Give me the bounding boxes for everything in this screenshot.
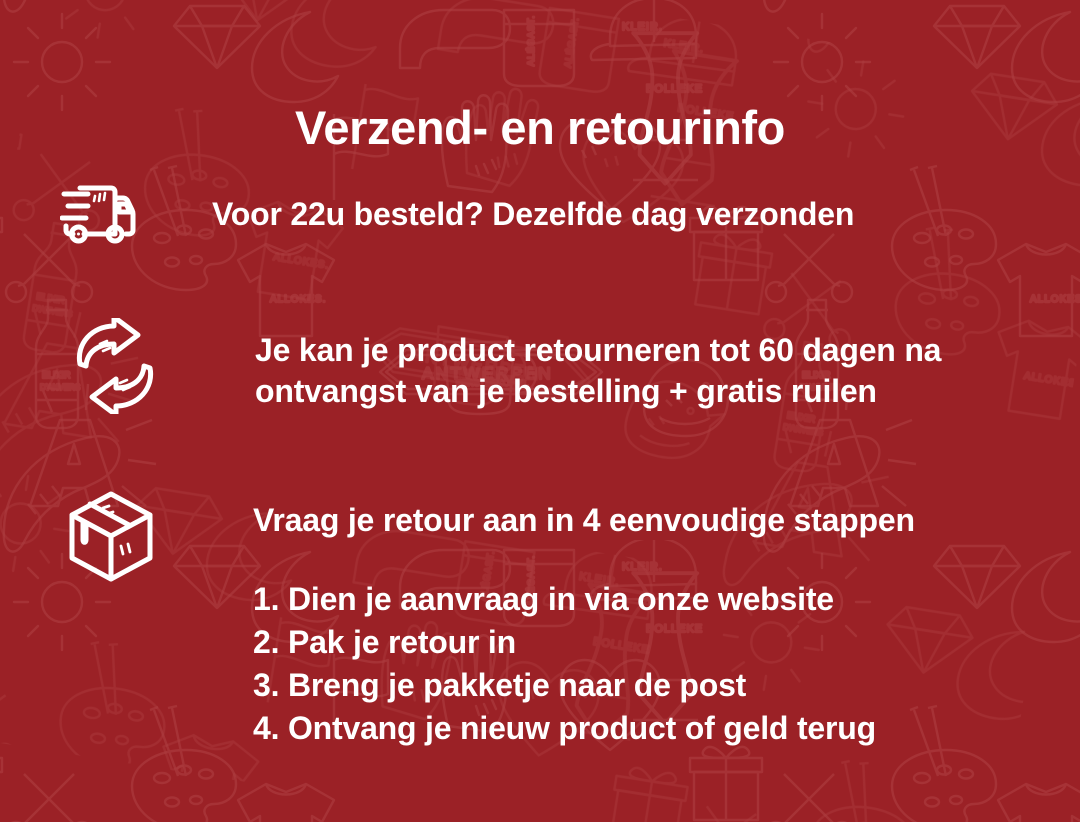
list-item: 1. Dien je aanvraag in via onze website: [253, 578, 915, 621]
returns-info-text: Je kan je product retourneren tot 60 dag…: [255, 330, 1075, 412]
list-item: 2. Pak je retour in: [253, 621, 915, 664]
return-steps-list: 1. Dien je aanvraag in via onze website …: [253, 578, 915, 750]
return-steps-row: Vraag je retour aan in 4 eenvoudige stap…: [66, 488, 915, 750]
shipping-info-row: Voor 22u besteld? Dezelfde dag verzonden: [60, 178, 854, 248]
return-steps-heading: Vraag je retour aan in 4 eenvoudige stap…: [253, 500, 915, 541]
list-item: 4. Ontvang je nieuw product of geld teru…: [253, 707, 915, 750]
page-title: Verzend- en retourinfo: [0, 103, 1080, 154]
return-exchange-arrows-icon: [72, 318, 158, 414]
shipping-info-text: Voor 22u besteld? Dezelfde dag verzonden: [212, 194, 854, 235]
package-box-icon: [66, 488, 156, 584]
shipping-returns-banner: BOLLEKE ELIXIR D'ANVERS: [0, 0, 1080, 822]
list-item: 3. Breng je pakketje naar de post: [253, 664, 915, 707]
return-steps-block: Vraag je retour aan in 4 eenvoudige stap…: [253, 488, 915, 750]
delivery-truck-icon: [60, 178, 136, 248]
returns-info-row: Je kan je product retourneren tot 60 dag…: [72, 318, 1075, 414]
